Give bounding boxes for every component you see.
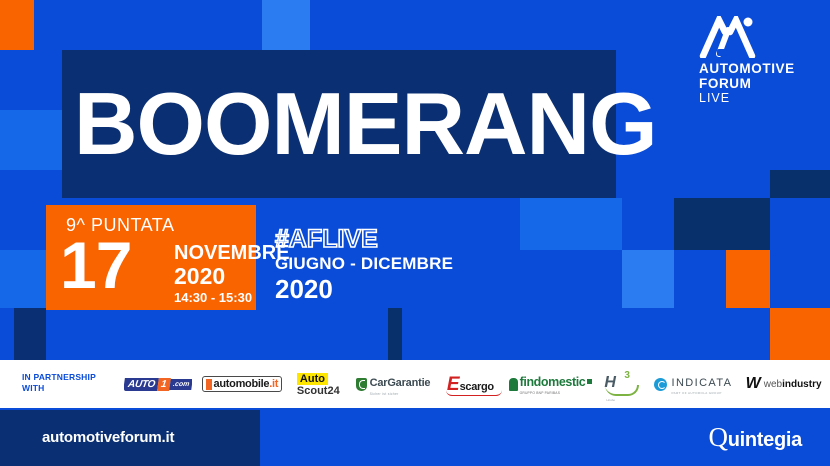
h3-arc-icon bbox=[605, 385, 639, 396]
background-square bbox=[46, 308, 52, 360]
background-square bbox=[0, 50, 62, 110]
background-square bbox=[0, 308, 14, 360]
automobileit-block-icon bbox=[206, 379, 212, 390]
page-title: BOOMERANG bbox=[74, 76, 674, 172]
date-year: 2020 bbox=[174, 264, 290, 289]
background-square bbox=[726, 250, 770, 308]
date-day: 17 bbox=[60, 232, 131, 298]
poster-canvas: BOOMERANG AUTOMOTIVE FORUM LIVE 9^ PUNTA… bbox=[0, 0, 830, 466]
automobileit-text: automobile bbox=[214, 378, 270, 390]
webindustry-w-icon: W bbox=[746, 377, 761, 391]
partner-logo-escargo[interactable]: E scargo bbox=[435, 360, 506, 408]
partner-logo-automobile-it[interactable]: automobile .it bbox=[198, 360, 285, 408]
background-square bbox=[674, 250, 726, 308]
partner-logo-cargarantie[interactable]: CarGarantie Sicher ist sicher bbox=[351, 360, 435, 408]
background-square bbox=[770, 250, 830, 308]
date-time: 14:30 - 15:30 bbox=[174, 289, 290, 306]
date-details: NOVEMBRE 2020 14:30 - 15:30 bbox=[174, 243, 290, 306]
autoscout-scout24: Scout24 bbox=[297, 385, 340, 397]
partner-strip: IN PARTNERSHIP WITH AUTO 1 .com automobi… bbox=[0, 360, 830, 408]
hashtag-label: #AFLIVE bbox=[275, 225, 453, 253]
series-year: 2020 bbox=[275, 274, 453, 304]
findomestic-text: findomestic bbox=[520, 375, 586, 389]
background-square bbox=[14, 308, 46, 360]
cargarantie-shield-icon bbox=[356, 378, 367, 391]
background-square bbox=[34, 0, 62, 50]
series-period: GIUGNO - DICEMBRE bbox=[275, 253, 453, 274]
footer-website-url[interactable]: automotiveforum.it bbox=[42, 429, 174, 446]
background-square bbox=[674, 198, 770, 250]
automotive-forum-logo: AUTOMOTIVE FORUM LIVE bbox=[695, 16, 815, 106]
partner-label: IN PARTNERSHIP WITH bbox=[22, 372, 96, 394]
indicata-text: INDICATA bbox=[671, 377, 732, 389]
background-square bbox=[0, 110, 62, 170]
background-square bbox=[0, 0, 34, 50]
background-square bbox=[770, 170, 830, 198]
logo-line-live: LIVE bbox=[699, 91, 795, 106]
partner-logo-webindustry[interactable]: W webindustry bbox=[737, 360, 830, 408]
indicata-circle-icon bbox=[654, 378, 667, 391]
automobileit-suffix: .it bbox=[269, 378, 278, 390]
hashtag-block: #AFLIVE GIUGNO - DICEMBRE 2020 bbox=[275, 225, 453, 304]
findomestic-pawn-icon bbox=[509, 378, 518, 391]
date-block: 9^ PUNTATA 17 NOVEMBRE 2020 14:30 - 15:3… bbox=[46, 205, 256, 310]
background-square bbox=[520, 198, 622, 250]
partner-logo-h3[interactable]: H 3 Hcubo bbox=[595, 360, 650, 408]
partner-logo-indicata[interactable]: INDICATA PART OF AUTOROLA GROUP bbox=[650, 360, 737, 408]
autoscout-auto: Auto bbox=[297, 373, 328, 385]
background-square bbox=[262, 0, 310, 50]
background-square bbox=[770, 308, 830, 360]
quintegia-text: uintegia bbox=[728, 429, 802, 452]
webindustry-industry: industry bbox=[782, 379, 821, 390]
quintegia-initial: Q bbox=[709, 427, 728, 447]
findomestic-sub: GRUPPO BNP PARIBAS bbox=[520, 391, 593, 395]
quintegia-logo[interactable]: Quintegia bbox=[709, 427, 802, 452]
background-square bbox=[388, 308, 402, 360]
escargo-swoosh-icon bbox=[446, 390, 502, 396]
cargarantie-text: CarGarantie bbox=[370, 377, 431, 389]
background-square bbox=[622, 250, 674, 308]
logo-wordmark: AUTOMOTIVE FORUM LIVE bbox=[699, 62, 795, 106]
h3-exponent: 3 bbox=[624, 370, 630, 381]
logo-line-automotive: AUTOMOTIVE bbox=[699, 62, 795, 77]
indicata-sub: PART OF AUTOROLA GROUP bbox=[671, 391, 732, 395]
date-month: NOVEMBRE bbox=[174, 243, 290, 264]
findomestic-square-icon bbox=[587, 379, 592, 384]
partner-label-line1: IN PARTNERSHIP bbox=[22, 372, 96, 383]
background-square bbox=[616, 170, 674, 198]
auto1-com: .com bbox=[169, 379, 192, 390]
partner-logos: AUTO 1 .com automobile .it Auto Scout24 bbox=[118, 360, 830, 408]
automotive-forum-a-mark bbox=[699, 16, 759, 63]
webindustry-web: web bbox=[764, 379, 782, 390]
cargarantie-sub: Sicher ist sicher bbox=[370, 392, 431, 396]
background-square bbox=[622, 198, 674, 250]
h3-sub: Hcubo bbox=[606, 398, 615, 402]
partner-logo-findomestic[interactable]: findomestic GRUPPO BNP PARIBAS bbox=[506, 360, 595, 408]
background-square bbox=[0, 170, 62, 198]
partner-label-line2: WITH bbox=[22, 383, 96, 394]
partner-logo-auto1-com[interactable]: AUTO 1 .com bbox=[118, 360, 198, 408]
background-square bbox=[770, 198, 830, 250]
background-square bbox=[62, 0, 262, 50]
background-square bbox=[674, 170, 770, 198]
auto1-text: AUTO bbox=[124, 378, 159, 391]
background-square bbox=[0, 250, 46, 308]
footer: automotiveforum.it Quintegia bbox=[0, 410, 830, 466]
partner-logo-autoscout24[interactable]: Auto Scout24 bbox=[286, 360, 352, 408]
logo-line-forum: FORUM bbox=[699, 77, 795, 92]
